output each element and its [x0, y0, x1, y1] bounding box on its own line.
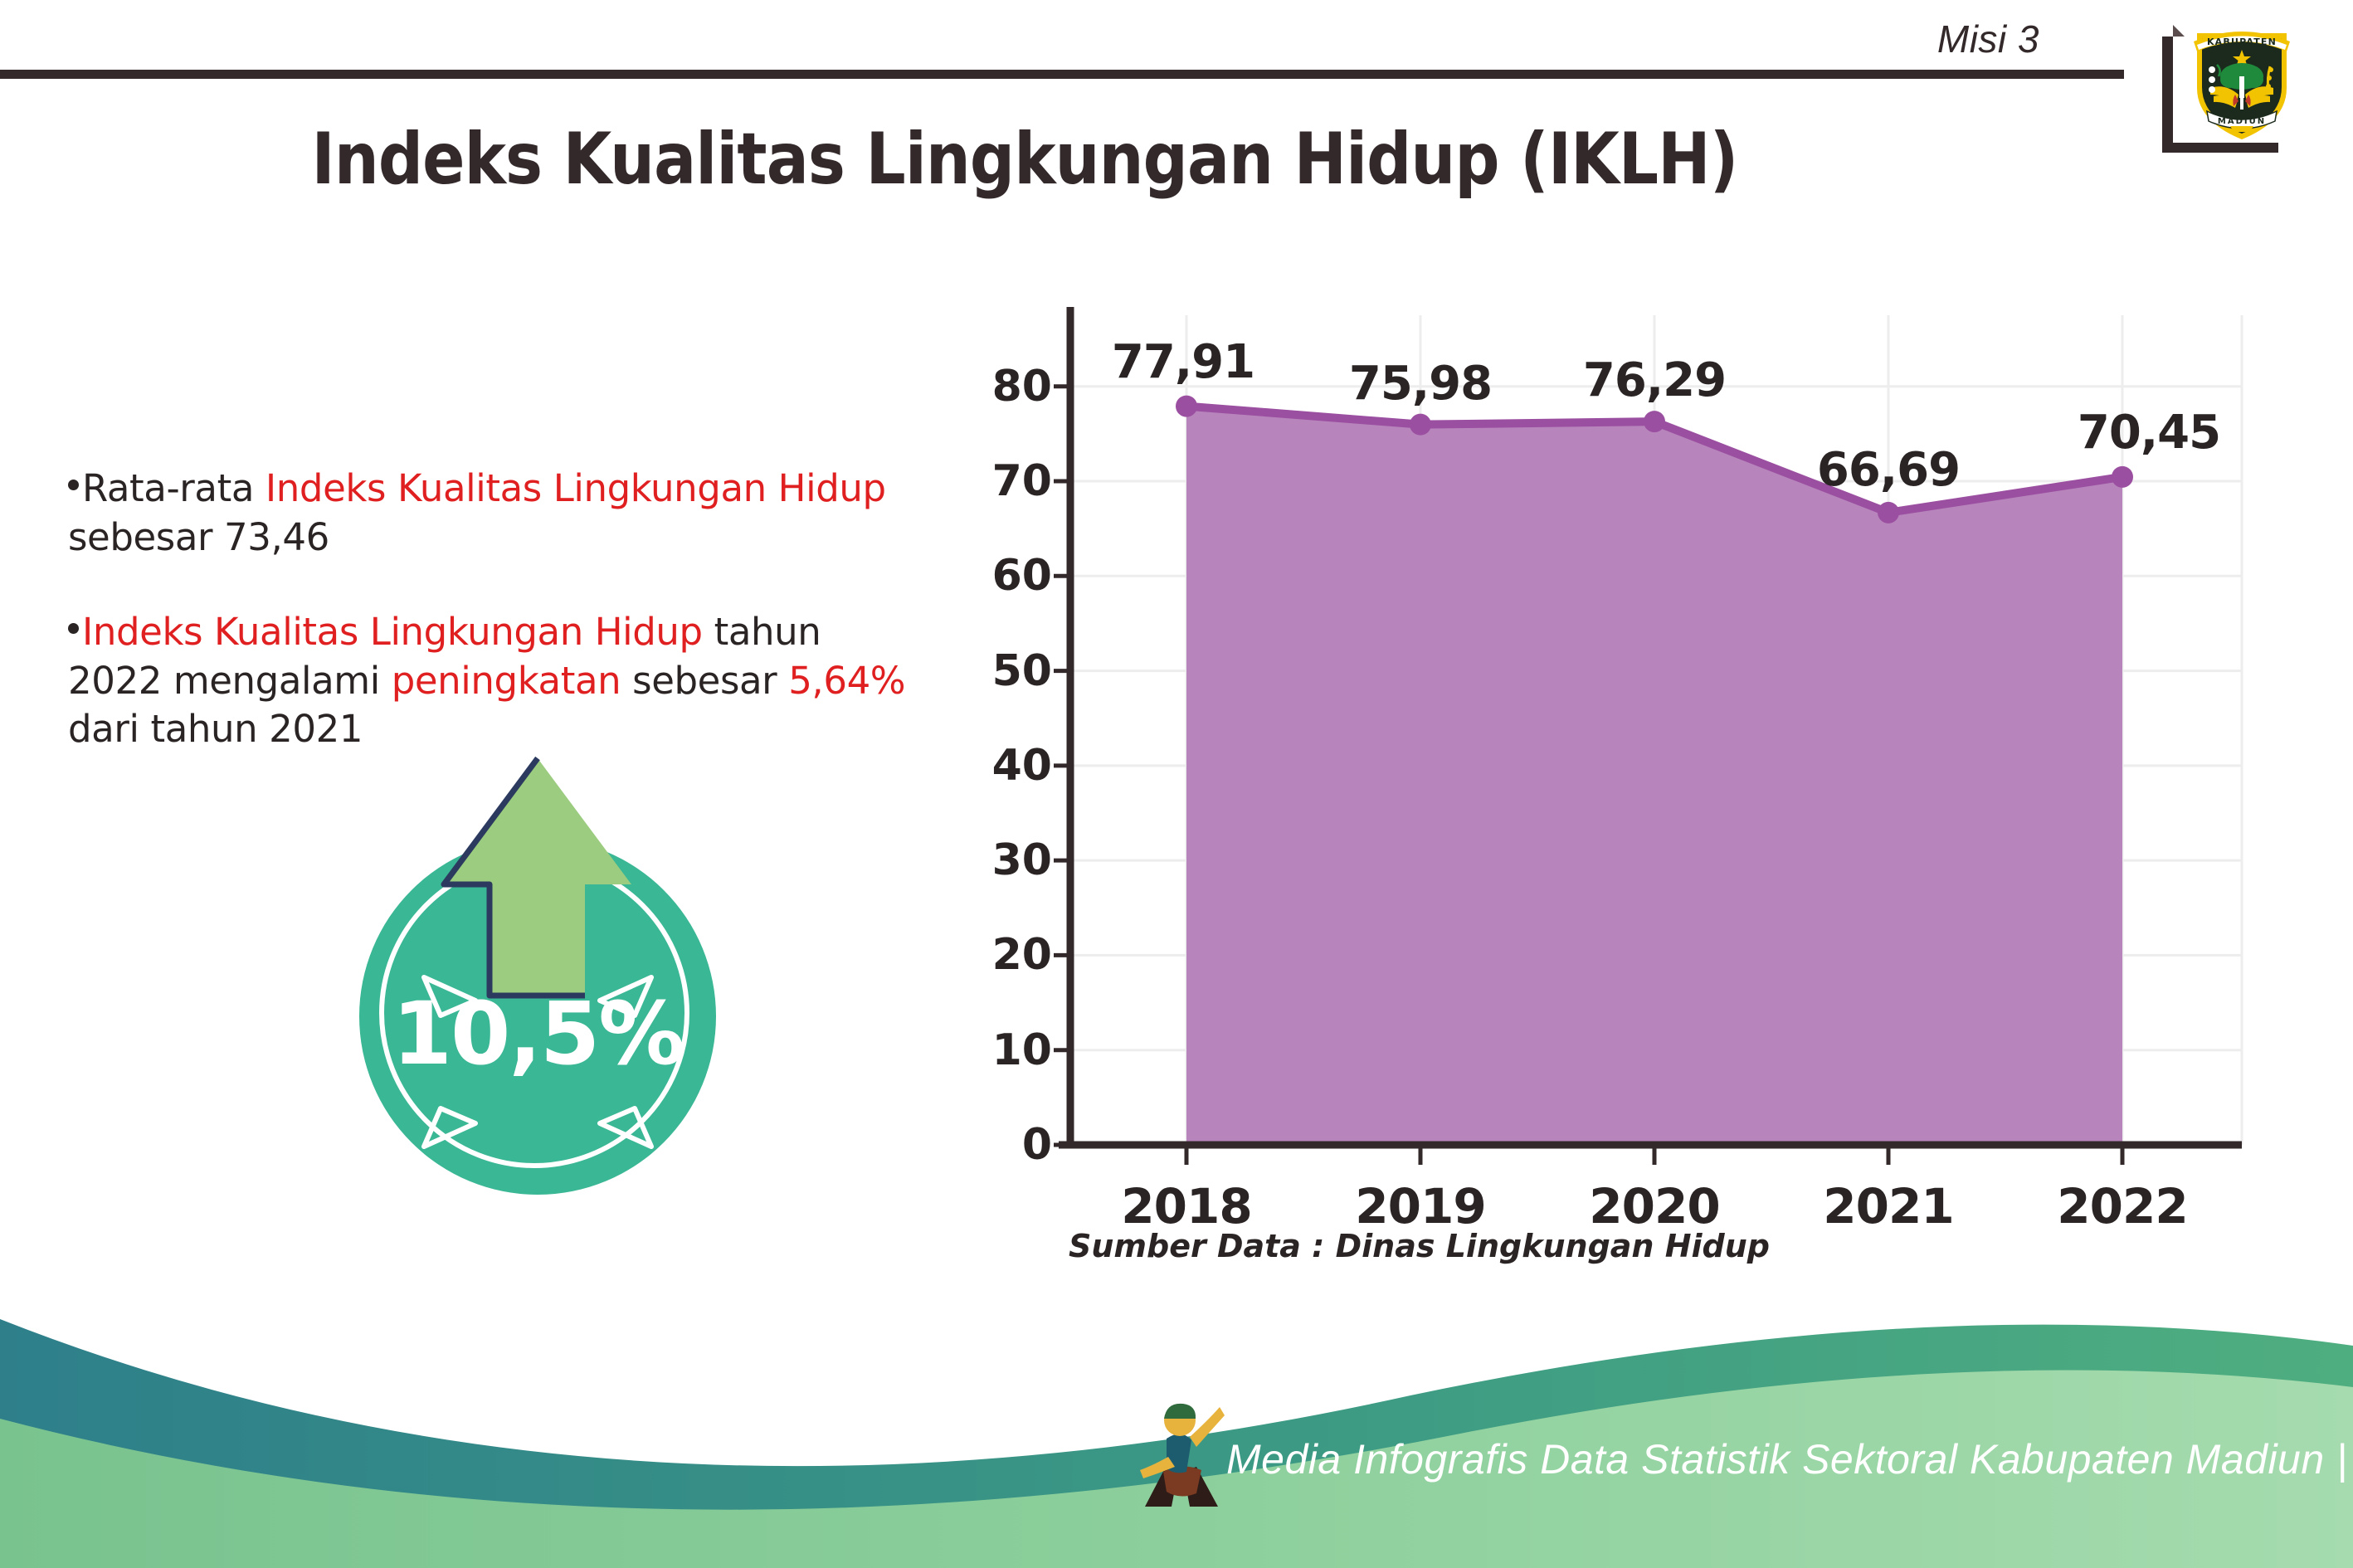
bullet-1-seg-3: sebesar — [621, 659, 788, 703]
dancer-logo-icon — [1138, 1392, 1225, 1508]
y-tick-label: 10 — [954, 1025, 1052, 1075]
header-bracket-vertical — [2162, 37, 2173, 153]
bullet-dot-icon — [68, 480, 79, 490]
bullet-1-seg-2: peningkatan — [392, 659, 621, 703]
page-title: Indeks Kualitas Lingkungan Hidup (IKLH) — [123, 118, 1927, 201]
y-tick-label: 30 — [954, 835, 1052, 885]
y-tick-label: 50 — [954, 646, 1052, 696]
source-note: Sumber Data : Dinas Lingkungan Hidup — [1069, 1228, 1770, 1264]
bullet-item-increase: Indeks Kualitas Lingkungan Hidup tahun 2… — [68, 608, 923, 754]
header-rule — [0, 70, 2124, 79]
growth-badge: 10,5% — [328, 747, 759, 1195]
page-footer: Media Infografis Data Statistik Sektoral… — [0, 1294, 2353, 1568]
x-tick-label: 2021 — [1781, 1178, 1996, 1234]
bullet-1-seg-4: 5,64% — [788, 659, 905, 703]
header-bracket-horizontal — [2162, 143, 2278, 153]
y-tick-label: 20 — [954, 930, 1052, 980]
y-tick-label: 70 — [954, 456, 1052, 506]
infographic-page: Misi 3 KABUPATEN — [0, 0, 2353, 1568]
bullet-item-average: Rata-rata Indeks Kualitas Lingkungan Hid… — [68, 465, 923, 562]
y-tick-label: 60 — [954, 551, 1052, 601]
bullet-1-seg-5: dari tahun 2021 — [68, 707, 363, 751]
data-point-label: 66,69 — [1817, 443, 1960, 497]
kabupaten-madiun-emblem-icon: KABUPATEN MADIUN — [2189, 18, 2295, 141]
svg-text:MADIUN: MADIUN — [2218, 117, 2266, 126]
misi-label: Misi 3 — [1937, 17, 2039, 61]
x-tick-label: 2018 — [1079, 1178, 1294, 1234]
iklh-area-chart: 80706050403020100 20182019202020212022 7… — [954, 299, 2282, 1178]
x-tick-label: 2019 — [1313, 1178, 1528, 1234]
x-tick-label: 2020 — [1547, 1178, 1762, 1234]
bullet-list: Rata-rata Indeks Kualitas Lingkungan Hid… — [68, 465, 923, 754]
up-arrow-icon — [328, 747, 759, 1195]
bullet-dot-icon — [68, 623, 79, 634]
data-point-label: 70,45 — [2078, 406, 2220, 460]
y-tick-label: 40 — [954, 741, 1052, 791]
data-point-label: 76,29 — [1583, 353, 1726, 407]
y-tick-label: 80 — [954, 362, 1052, 411]
bullet-0-seg-1: Indeks Kualitas Lingkungan Hidup — [266, 466, 886, 510]
data-point-label: 75,98 — [1349, 357, 1492, 411]
bullet-0-seg-2: sebesar 73,46 — [68, 515, 329, 559]
y-tick-label: 0 — [954, 1120, 1052, 1170]
bullet-0-seg-0: Rata-rata — [82, 466, 266, 510]
data-point-label: 77,91 — [1112, 335, 1254, 389]
svg-text:KABUPATEN: KABUPATEN — [2207, 37, 2277, 47]
chart-area-fill — [1186, 407, 2122, 1145]
x-tick-label: 2022 — [2014, 1178, 2230, 1234]
badge-percent-value: 10,5% — [359, 983, 716, 1084]
footer-caption: Media Infografis Data Statistik Sektoral… — [1226, 1435, 2348, 1483]
bullet-1-seg-0: Indeks Kualitas Lingkungan Hidup — [82, 610, 703, 654]
